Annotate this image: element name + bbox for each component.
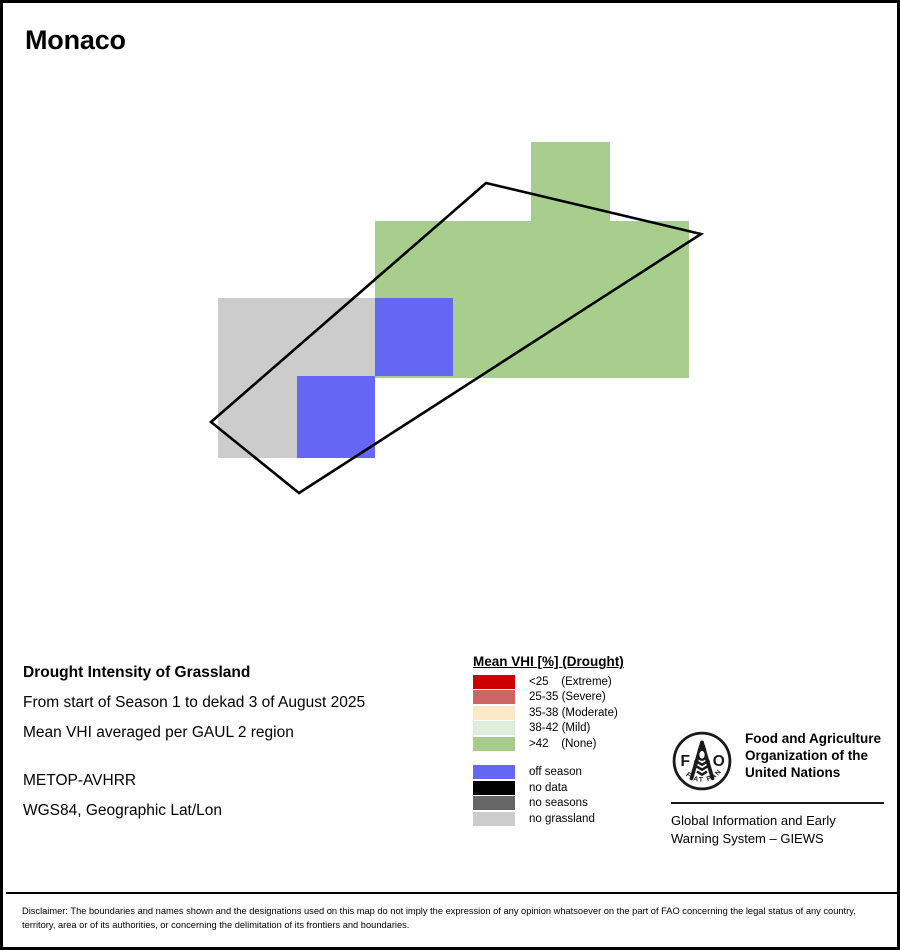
description-line-method: Mean VHI averaged per GAUL 2 region <box>23 718 453 748</box>
legend-label-status-0: off season <box>529 766 582 778</box>
legend-status-classes: off seasonno datano seasonsno grassland <box>473 765 663 827</box>
map-canvas[interactable] <box>3 63 897 623</box>
fao-divider <box>671 802 884 804</box>
fao-organization-name-line-1: Organization of the <box>745 747 881 764</box>
legend-swatch-drought-2 <box>473 706 515 720</box>
fao-logo-row: F A O FIAT PANIS Food and AgricultureOrg… <box>671 730 886 792</box>
legend-row-drought-1: 25-35 (Severe) <box>473 690 663 706</box>
country-boundary-outline <box>211 183 701 493</box>
legend-swatch-drought-0 <box>473 675 515 689</box>
legend-label-drought-2: 35-38 (Moderate) <box>529 707 618 719</box>
fao-letter-o: O <box>713 753 725 770</box>
map-description-block: Drought Intensity of Grassland From star… <box>23 658 453 826</box>
legend-swatch-status-3 <box>473 812 515 826</box>
legend-label-drought-0: <25 (Extreme) <box>529 676 612 688</box>
legend-row-status-0: off season <box>473 765 663 781</box>
fao-system-name: Global Information and EarlyWarning Syst… <box>671 812 886 848</box>
disclaimer-box: Disclaimer: The boundaries and names sho… <box>6 892 897 947</box>
fao-letter-f: F <box>681 753 690 770</box>
legend-swatch-drought-3 <box>473 721 515 735</box>
disclaimer-text: Disclaimer: The boundaries and names sho… <box>22 904 882 932</box>
legend-title: Mean VHI [%] (Drought) <box>473 654 663 669</box>
legend-gap <box>473 752 663 765</box>
description-line-projection: WGS84, Geographic Lat/Lon <box>23 796 453 826</box>
legend-label-drought-4: >42 (None) <box>529 738 596 750</box>
legend-label-drought-1: 25-35 (Severe) <box>529 691 606 703</box>
legend-swatch-drought-4 <box>473 737 515 751</box>
map-page: Monaco Drought Intensity of Grassland Fr… <box>0 0 900 950</box>
legend-row-drought-0: <25 (Extreme) <box>473 674 663 690</box>
legend-swatch-drought-1 <box>473 690 515 704</box>
page-title: Monaco <box>25 25 126 56</box>
fao-organization-name-line-0: Food and Agriculture <box>745 730 881 747</box>
legend: Mean VHI [%] (Drought) <25 (Extreme)25-3… <box>473 654 663 827</box>
legend-row-drought-3: 38-42 (Mild) <box>473 721 663 737</box>
fao-system-name-line-0: Global Information and Early <box>671 812 886 830</box>
description-line-title: Drought Intensity of Grassland <box>23 658 453 688</box>
fao-system-name-line-1: Warning System – GIEWS <box>671 830 886 848</box>
description-spacer <box>23 748 453 766</box>
fao-emblem-icon: F A O FIAT PANIS <box>671 730 733 792</box>
legend-label-status-3: no grassland <box>529 813 595 825</box>
legend-swatch-status-1 <box>473 781 515 795</box>
legend-swatch-status-2 <box>473 796 515 810</box>
fao-organization-name-line-2: United Nations <box>745 764 881 781</box>
description-line-period: From start of Season 1 to dekad 3 of Aug… <box>23 688 453 718</box>
legend-label-status-1: no data <box>529 782 567 794</box>
fao-branding-block: F A O FIAT PANIS Food and AgricultureOrg… <box>671 730 886 848</box>
legend-label-drought-3: 38-42 (Mild) <box>529 722 590 734</box>
legend-row-status-1: no data <box>473 780 663 796</box>
admin-boundary-layer <box>3 63 897 623</box>
legend-row-status-2: no seasons <box>473 796 663 812</box>
fao-organization-name: Food and AgricultureOrganization of theU… <box>745 730 881 781</box>
legend-row-status-3: no grassland <box>473 811 663 827</box>
legend-swatch-status-0 <box>473 765 515 779</box>
description-line-sensor: METOP-AVHRR <box>23 766 453 796</box>
legend-label-status-2: no seasons <box>529 797 588 809</box>
legend-row-drought-2: 35-38 (Moderate) <box>473 705 663 721</box>
legend-row-drought-4: >42 (None) <box>473 736 663 752</box>
legend-drought-classes: <25 (Extreme)25-35 (Severe)35-38 (Modera… <box>473 674 663 752</box>
fao-letter-a: A <box>697 738 707 753</box>
